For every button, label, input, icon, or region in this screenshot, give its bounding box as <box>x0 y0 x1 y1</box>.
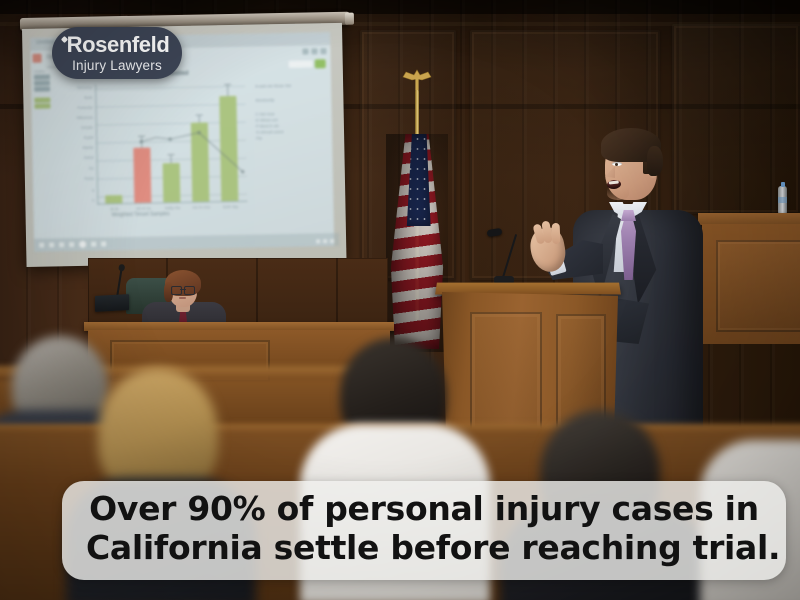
chart-x-axis-label: Weighted Timset Samples <box>112 211 170 218</box>
slide-app-icon <box>32 54 41 63</box>
slide-taskbar[interactable] <box>34 233 339 252</box>
speaker-finger <box>552 223 561 244</box>
present-button[interactable] <box>315 59 326 68</box>
slide-sidebar[interactable]: Outline <box>33 67 58 227</box>
window-controls[interactable] <box>302 48 326 54</box>
chart-y-tick: Bcak <box>84 96 92 100</box>
panel-seam <box>256 258 258 324</box>
chart-y-tick: Euplit <box>84 136 93 140</box>
caption-line-1: Over 90% of personal injury cases in <box>86 490 762 529</box>
glasses-lens-left <box>171 286 182 295</box>
maximize-icon[interactable] <box>311 48 317 54</box>
chart-y-tick: Ekonomy <box>77 86 92 90</box>
witness-monitor <box>95 294 129 312</box>
sidebar-thumb[interactable] <box>34 86 50 91</box>
forward-icon[interactable] <box>49 242 54 247</box>
back-icon[interactable] <box>39 243 44 248</box>
volume-icon[interactable] <box>323 239 327 243</box>
panel-seam <box>336 258 338 324</box>
chart-y-tick: 6 <box>92 189 94 193</box>
rosenfeld-logo: Rosenfeld Injury Lawyers <box>52 27 182 79</box>
speaker-eye <box>612 162 622 166</box>
chart-legend: A said ute Wuse Set Amuicuntp C Set mue … <box>255 82 318 141</box>
logo-line-2: Injury Lawyers <box>72 59 162 73</box>
present-icon[interactable] <box>91 242 96 247</box>
speaker-chin-shading <box>607 188 629 200</box>
roller-end-cap <box>345 13 354 25</box>
system-tray[interactable] <box>316 239 334 243</box>
legend-entry: Fta <box>256 134 318 140</box>
minimize-icon[interactable] <box>302 49 308 55</box>
sidebar-thumb[interactable] <box>34 74 50 79</box>
chart-x-tick: Sd8ly Sla <box>165 206 180 210</box>
chart-x-tick: Vd-Ys VG1 <box>192 205 210 209</box>
glasses-icon <box>171 286 195 293</box>
sidebar-thumb[interactable] <box>34 97 50 102</box>
chart-y-tick: Ruste <box>84 177 93 181</box>
sidebar-item-label: Outline <box>34 69 55 73</box>
american-flag <box>382 68 452 358</box>
wifi-icon[interactable] <box>316 239 320 243</box>
chart-x-tick: Bt-Bt <box>110 207 118 211</box>
witness-mouth <box>179 297 186 299</box>
legend-entry: A said ute Wuse Set <box>255 82 317 88</box>
close-icon[interactable] <box>320 48 326 54</box>
chart-y-tick: Entrate <box>81 126 93 130</box>
logo-line-1: Rosenfeld <box>65 34 170 56</box>
chart-y-tick: Grtest <box>84 156 94 160</box>
slide-chart: Exchange Magnets Desquestied Ekonomy <box>59 69 298 232</box>
chart-x-tick: Sc2tr Skp <box>223 205 239 209</box>
chart-y-tick: 0 <box>92 199 94 203</box>
chart-y-tick: Purwroka <box>77 106 92 110</box>
record-icon[interactable] <box>79 241 86 248</box>
chart-line-series <box>95 82 247 205</box>
wall-cornice <box>0 0 800 14</box>
legend-entry: Amuicuntp <box>255 96 317 102</box>
courtroom-scene: Untitled presentation Design insights fo… <box>0 0 800 600</box>
grid-icon[interactable] <box>101 241 106 246</box>
speaker-hair <box>601 128 661 162</box>
chart-y-tick: Nffactonia <box>77 116 93 120</box>
sidebar-thumb[interactable] <box>34 103 50 108</box>
caption-banner: Over 90% of personal injury cases in Cal… <box>62 481 786 580</box>
chart-plot-area: Ekonomy Bcak Purwroka Nffactonia Entrate… <box>95 82 247 205</box>
chart-y-tick: Nande <box>83 146 94 150</box>
water-bottle <box>778 186 787 214</box>
refresh-icon[interactable] <box>59 242 64 247</box>
battery-icon[interactable] <box>330 239 334 243</box>
chart-y-tick: Rh <box>89 167 94 171</box>
present-label-strip <box>289 60 313 67</box>
chart-x-tick: Wt-Ht Sa <box>136 207 151 211</box>
glasses-lens-right <box>184 286 195 295</box>
home-icon[interactable] <box>69 242 74 247</box>
sidebar-thumb[interactable] <box>34 80 50 85</box>
caption-line-2: California settle before reaching trial. <box>86 529 762 568</box>
